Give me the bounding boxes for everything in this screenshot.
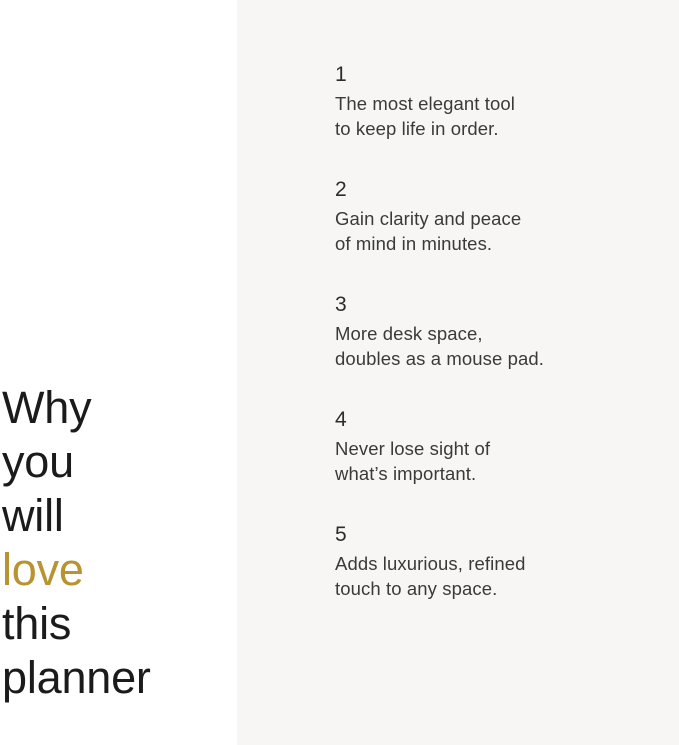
benefits-list: 1 The most elegant tool to keep life in … <box>335 62 655 601</box>
headline-line-4-accent: love <box>2 543 232 597</box>
benefit-text: More desk space, doubles as a mouse pad. <box>335 321 655 371</box>
benefit-text-line: touch to any space. <box>335 576 655 601</box>
benefit-item-4: 4 Never lose sight of what’s important. <box>335 407 655 486</box>
benefit-text-line: what’s important. <box>335 461 655 486</box>
benefit-number: 2 <box>335 177 655 203</box>
benefit-number: 4 <box>335 407 655 433</box>
product-benefits-poster: Why you will love this planner 1 The mos… <box>0 0 679 745</box>
headline-line-5: this <box>2 597 232 651</box>
benefit-text-line: doubles as a mouse pad. <box>335 346 655 371</box>
headline-line-2: you <box>2 435 232 489</box>
benefit-item-3: 3 More desk space, doubles as a mouse pa… <box>335 292 655 371</box>
benefit-item-2: 2 Gain clarity and peace of mind in minu… <box>335 177 655 256</box>
benefit-number: 5 <box>335 522 655 548</box>
benefit-text: Gain clarity and peace of mind in minute… <box>335 206 655 256</box>
benefit-text-line: More desk space, <box>335 321 655 346</box>
left-headline-panel: Why you will love this planner <box>0 0 237 745</box>
benefit-text-line: Never lose sight of <box>335 436 655 461</box>
benefit-text-line: to keep life in order. <box>335 116 655 141</box>
benefit-item-5: 5 Adds luxurious, refined touch to any s… <box>335 522 655 601</box>
benefit-number: 3 <box>335 292 655 318</box>
benefit-text-line: Adds luxurious, refined <box>335 551 655 576</box>
headline-line-1: Why <box>2 381 232 435</box>
benefit-text: Never lose sight of what’s important. <box>335 436 655 486</box>
right-benefits-panel: 1 The most elegant tool to keep life in … <box>237 0 679 745</box>
benefit-text: Adds luxurious, refined touch to any spa… <box>335 551 655 601</box>
headline-line-6: planner <box>2 651 232 705</box>
headline-line-3: will <box>2 489 232 543</box>
benefit-text: The most elegant tool to keep life in or… <box>335 91 655 141</box>
benefit-text-line: The most elegant tool <box>335 91 655 116</box>
headline: Why you will love this planner <box>2 381 232 705</box>
benefit-text-line: of mind in minutes. <box>335 231 655 256</box>
benefit-number: 1 <box>335 62 655 88</box>
benefit-text-line: Gain clarity and peace <box>335 206 655 231</box>
benefit-item-1: 1 The most elegant tool to keep life in … <box>335 62 655 141</box>
